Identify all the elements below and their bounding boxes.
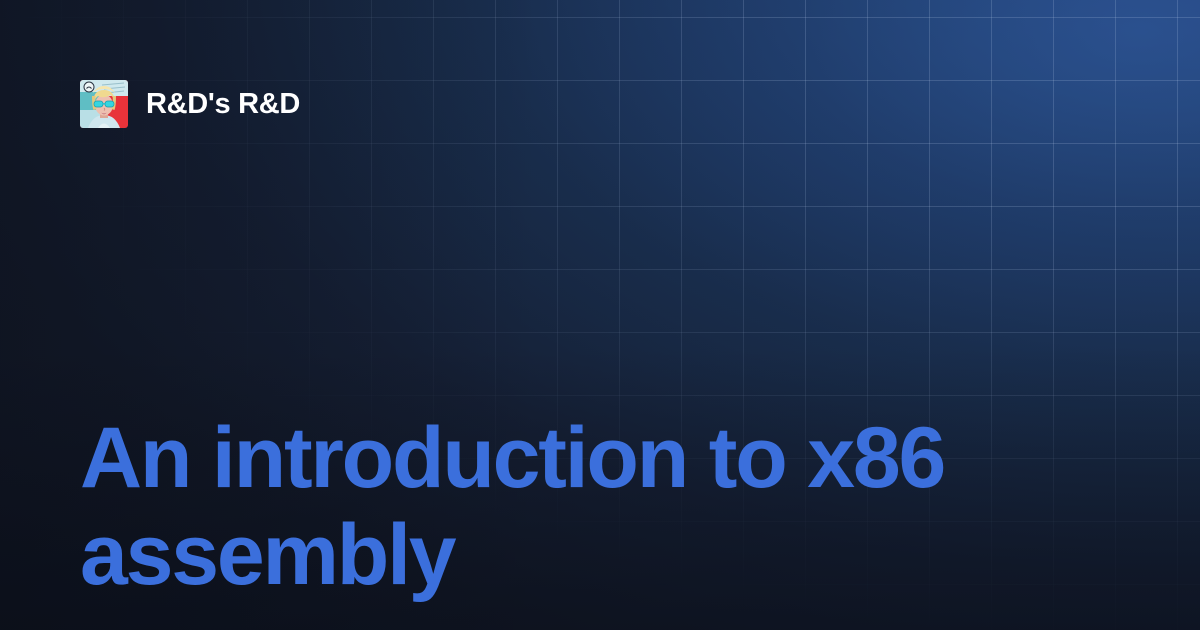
card-content: R&D's R&D An introduction to x86 assembl… [0,0,1200,630]
open-graph-card: R&D's R&D An introduction to x86 assembl… [0,0,1200,630]
page-title: An introduction to x86 assembly [80,410,1120,604]
site-header[interactable]: R&D's R&D [80,80,300,128]
avatar [80,80,128,128]
site-title: R&D's R&D [146,90,300,119]
